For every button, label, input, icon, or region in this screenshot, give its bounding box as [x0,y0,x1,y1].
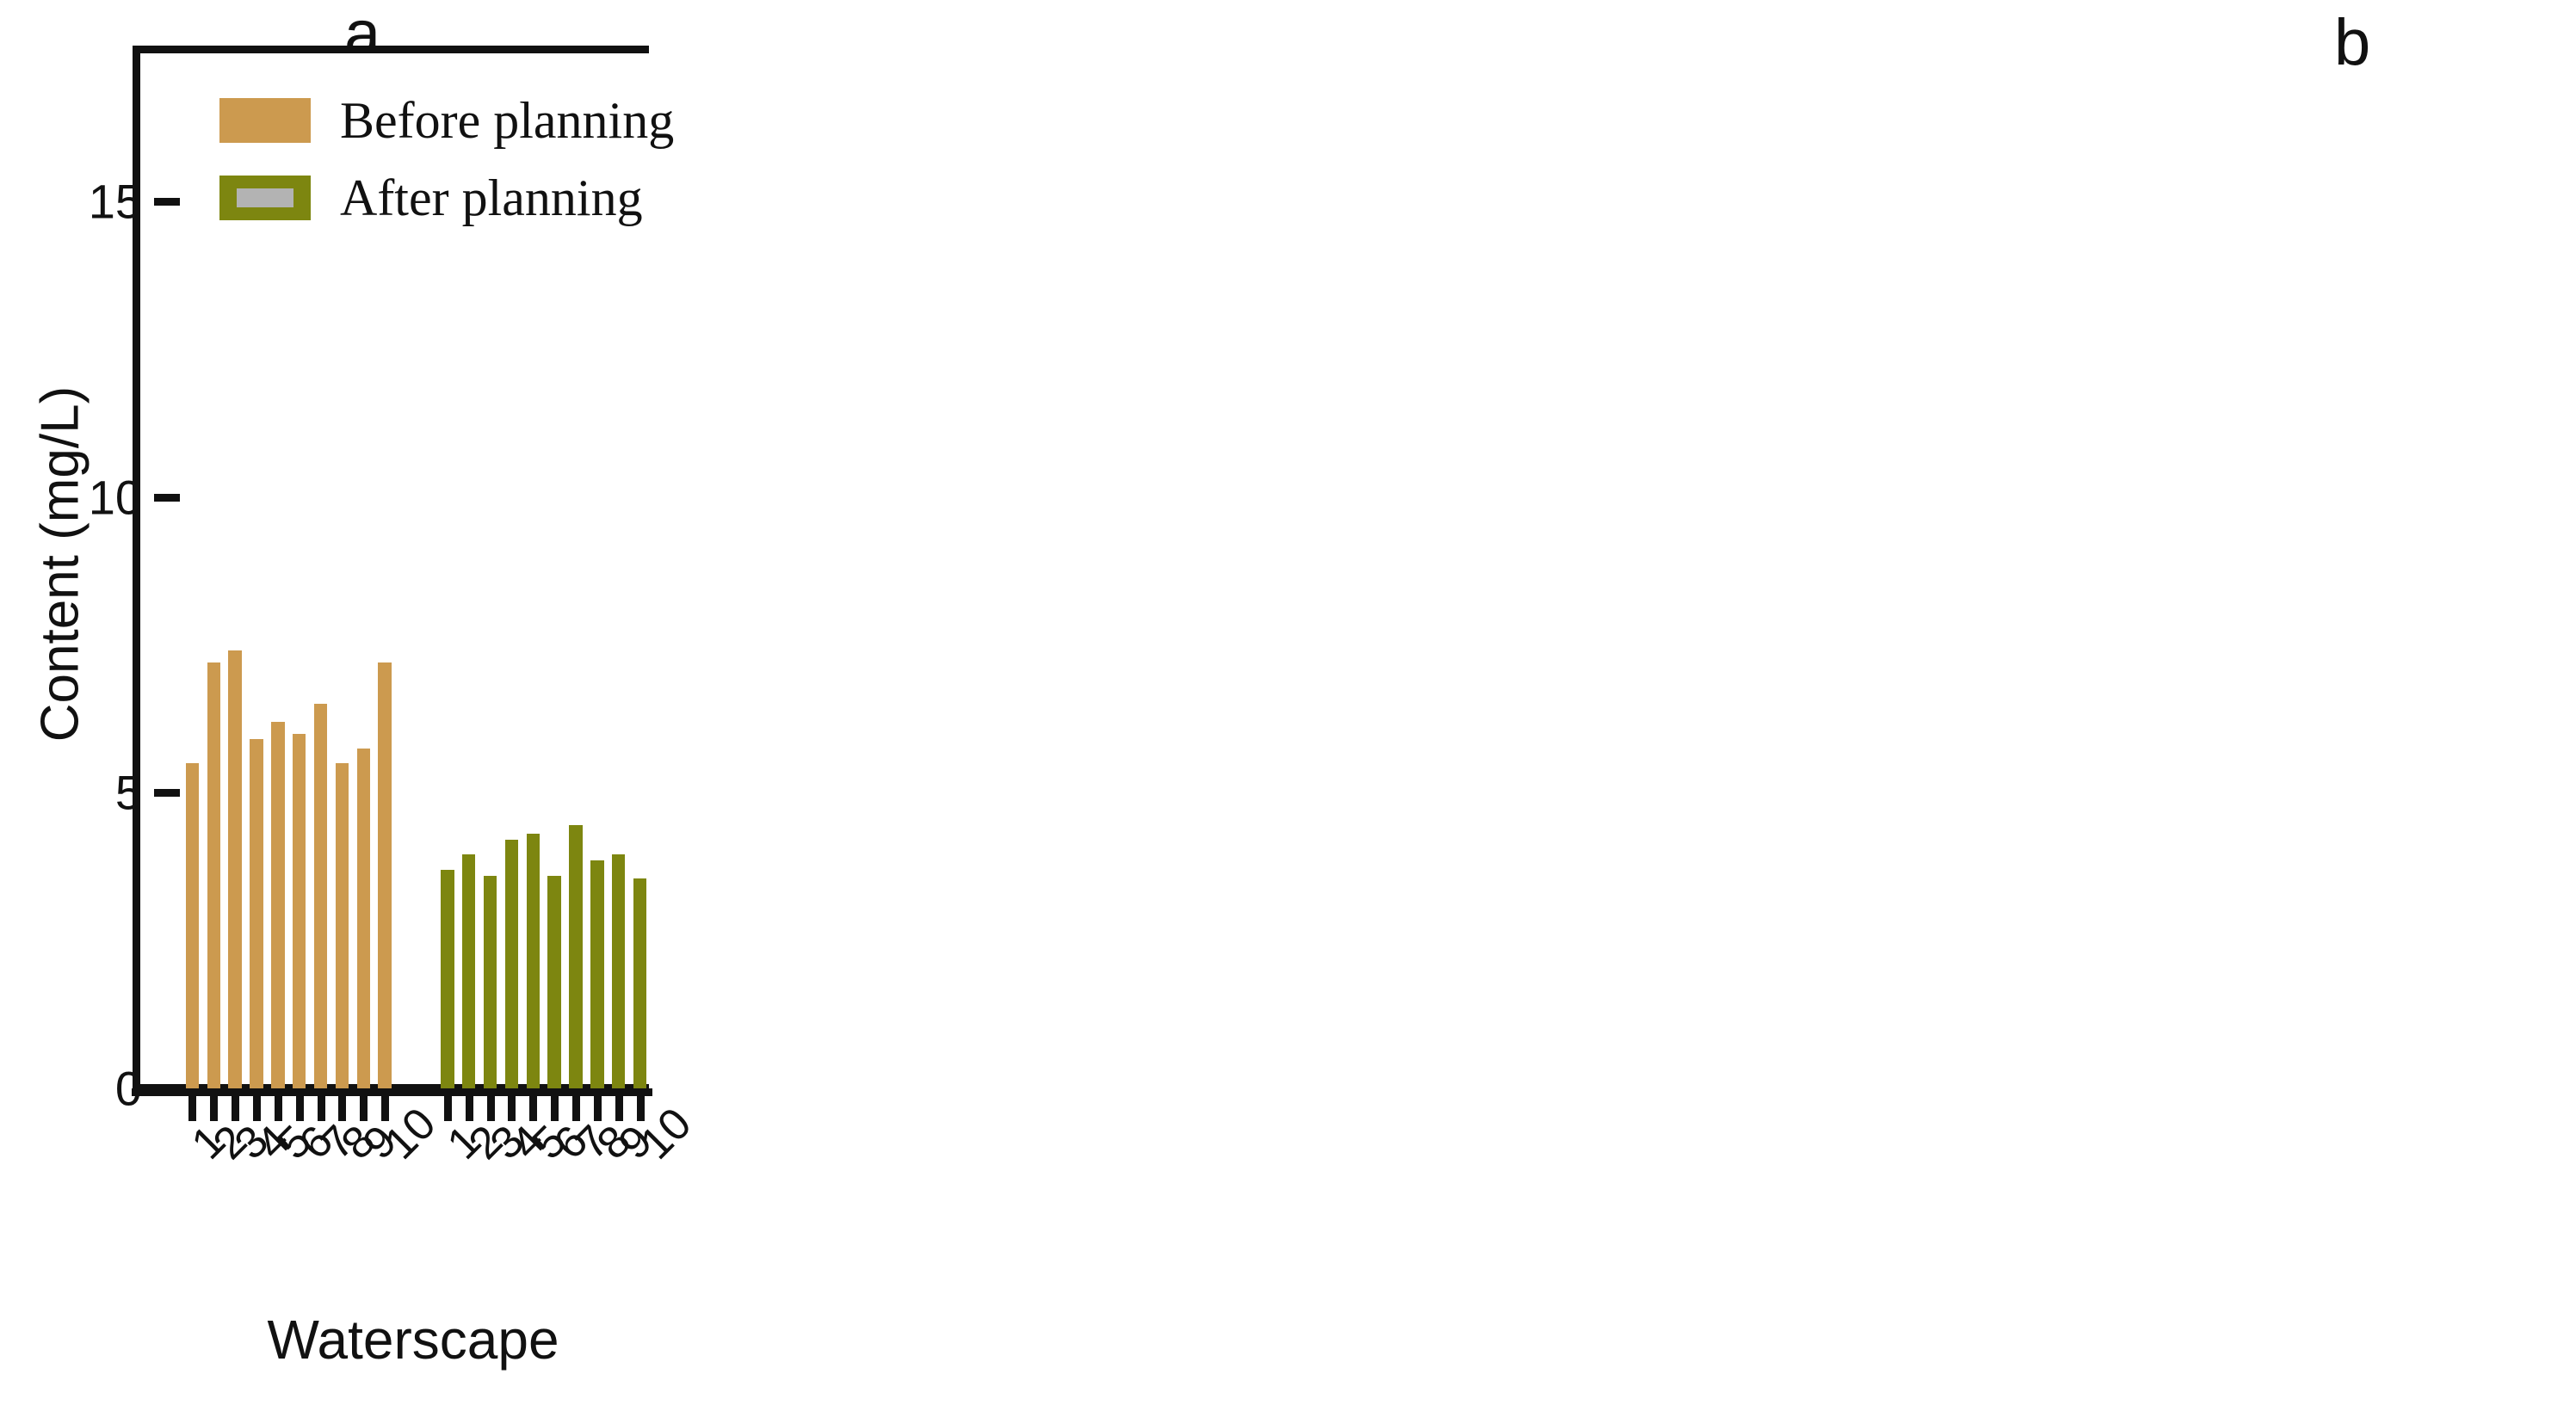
legend-item-before: Before planning [219,95,674,146]
panel-a: a 1234567891012345678910 Content (mg/L) … [0,0,1288,1405]
legend-swatch-after-inner-icon [237,188,293,207]
bar [186,763,199,1088]
bar [441,870,454,1088]
bar [250,739,263,1088]
panel-a-legend: Before planning After planning [219,95,674,250]
y-tick-label: 0 [4,1061,142,1117]
panel-a-y-axis-label: Content (mg/L) [30,324,91,805]
y-tick-label: 15 [4,173,142,229]
figure-container: a 1234567891012345678910 Content (mg/L) … [0,0,2576,1405]
y-tick-mark [154,494,180,502]
bar [484,876,497,1088]
bar [314,704,327,1088]
panel-a-x-axis-label: Waterscape [155,1308,671,1371]
bar [293,734,306,1088]
bar [633,878,646,1088]
bar [569,825,582,1088]
legend-label-before: Before planning [340,95,674,146]
x-axis-line [132,1088,652,1096]
y-tick-label: 5 [4,765,142,821]
bar [378,662,391,1088]
panel-b: b 1234567891012345678910 Content(µg/L) W… [1288,0,2576,1405]
bar [336,763,349,1088]
bar [590,860,603,1088]
legend-item-after: After planning [219,172,674,224]
legend-swatch-before-icon [219,98,311,143]
bar [357,749,370,1088]
bar [207,662,220,1088]
bar [462,854,475,1088]
bar [527,834,540,1088]
y-tick-label: 10 [4,469,142,525]
bar [228,650,241,1088]
bar [271,722,284,1088]
y-tick-mark [154,789,180,797]
legend-swatch-after-icon [219,176,311,220]
bar [547,876,560,1088]
bar [612,854,625,1088]
bar [505,840,518,1088]
y-tick-mark [154,198,180,206]
panel-b-title: b [2334,10,2370,76]
legend-label-after: After planning [340,172,643,224]
